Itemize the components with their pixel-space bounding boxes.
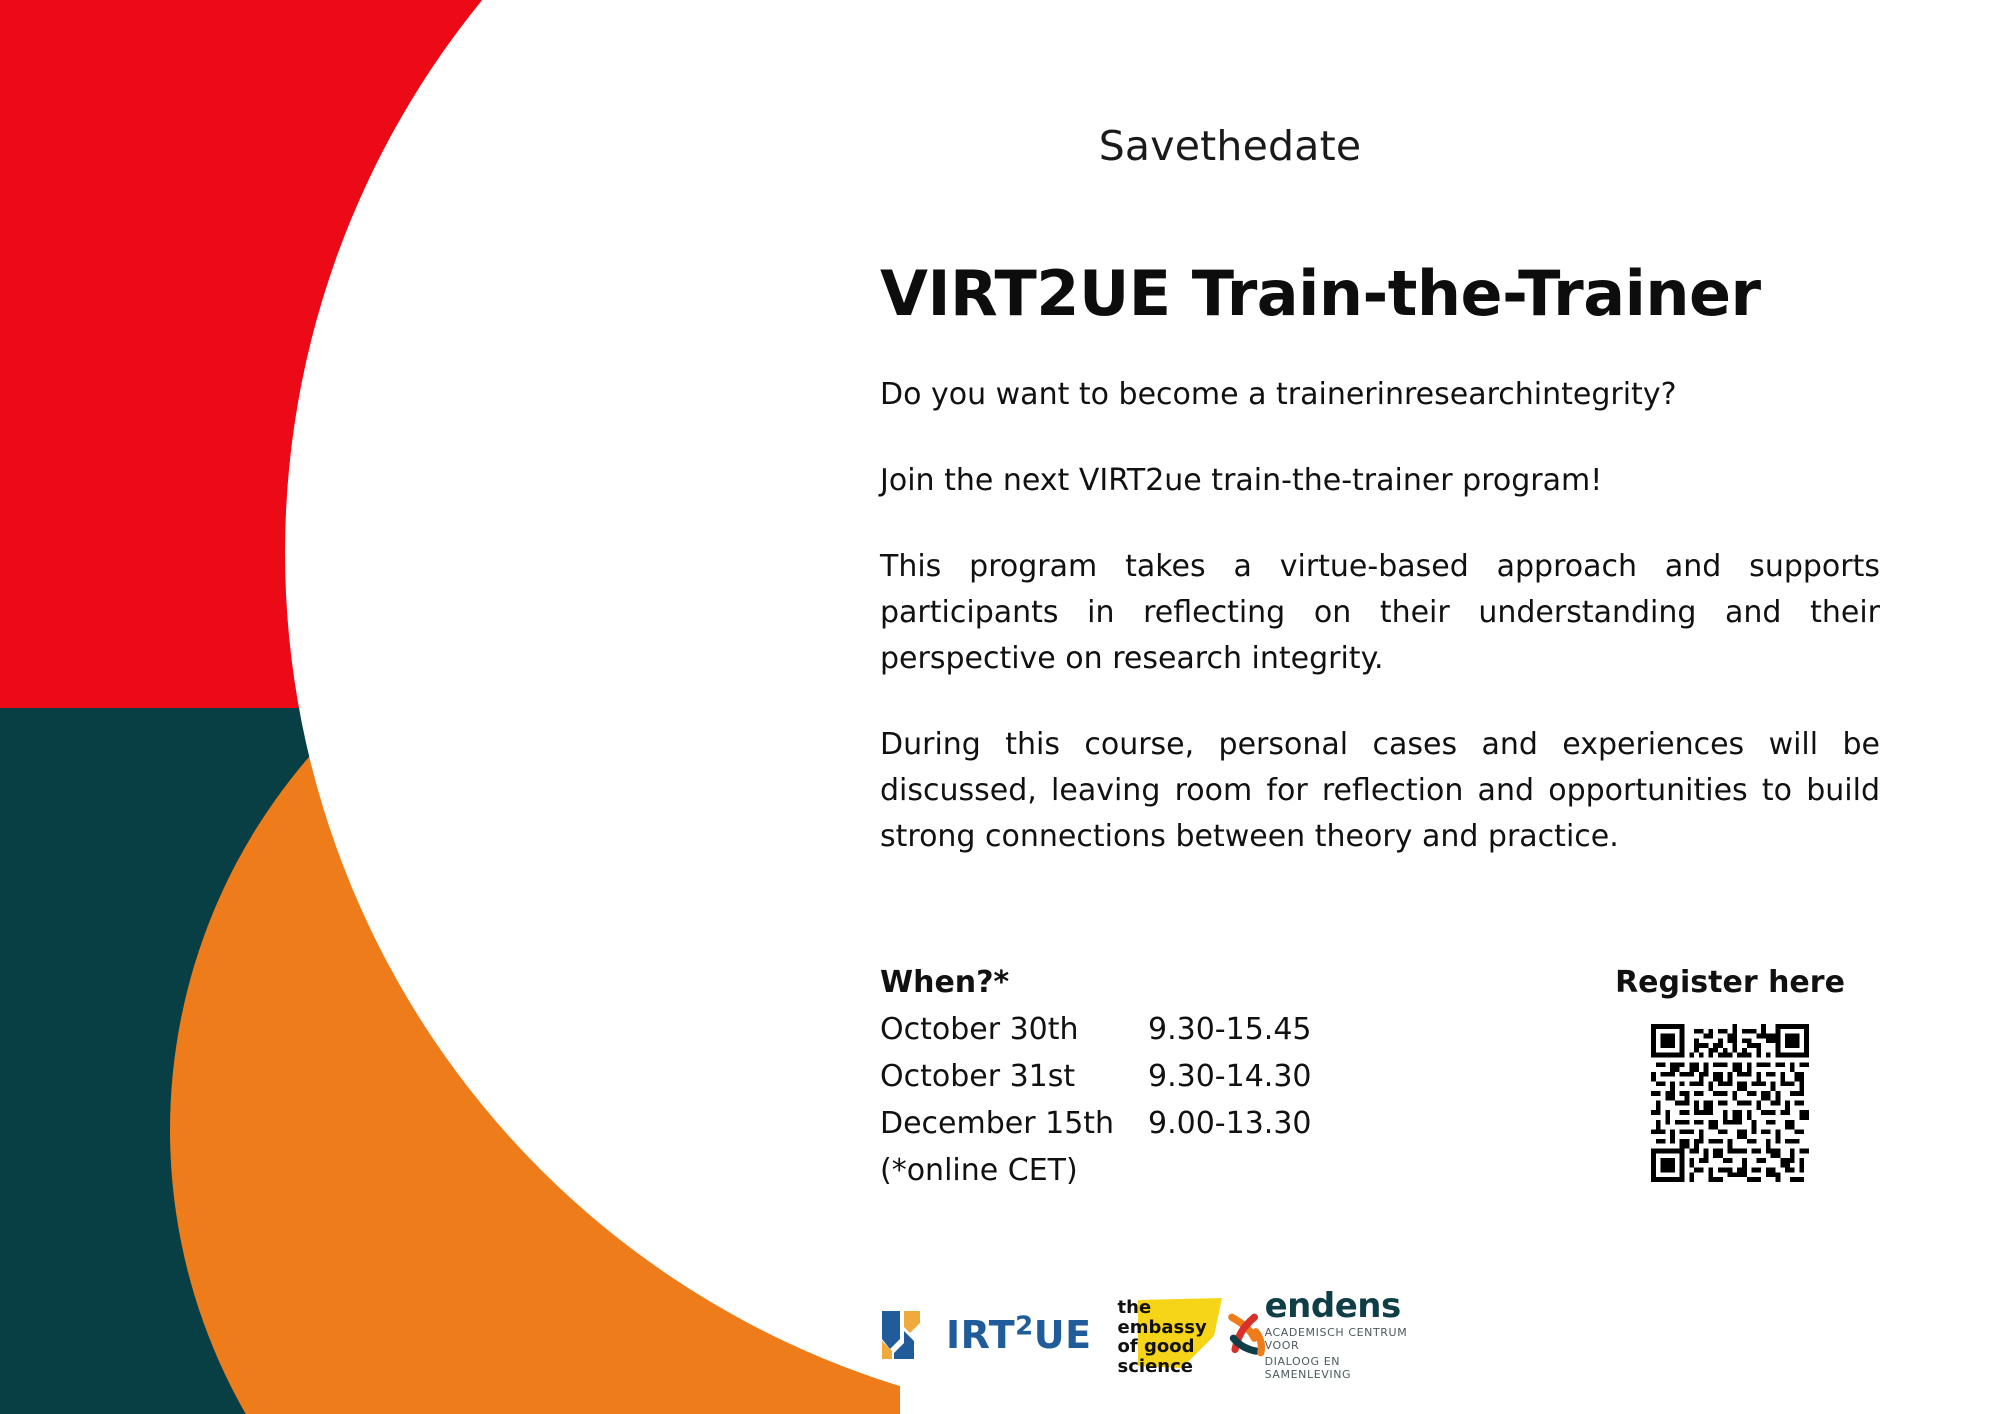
embassy-wordmark: the embassy of good science <box>1118 1296 1207 1376</box>
qr-code-icon[interactable] <box>1651 1024 1809 1182</box>
register-heading: Register here <box>1560 960 1900 1006</box>
schedule-date: October 31st <box>880 1053 1148 1100</box>
schedule-row: October 31st 9.30-14.30 <box>880 1053 1400 1100</box>
xendens-word: endens <box>1265 1289 1411 1323</box>
schedule-date: December 15th <box>880 1100 1148 1147</box>
poster-content: Savethedate VIRT2UE Train-the-Trainer Do… <box>0 0 2000 1414</box>
paragraph-course-description: During this course, personal cases and e… <box>880 722 1880 860</box>
schedule-time: 9.30-15.45 <box>1148 1006 1312 1053</box>
virt2ue-word-tail: UE <box>1034 1313 1092 1357</box>
logo-strip: IRT2UE the embassy of good science <box>880 1290 1400 1380</box>
schedule-date: October 30th <box>880 1006 1148 1053</box>
schedule-footnote: (*online CET) <box>880 1147 1400 1194</box>
schedule-row: October 30th 9.30-15.45 <box>880 1006 1400 1053</box>
virt2ue-word-main: IRT <box>946 1313 1015 1357</box>
virt2ue-wordmark: IRT2UE <box>946 1316 1092 1354</box>
schedule-block: When?* October 30th 9.30-15.45 October 3… <box>880 960 1400 1194</box>
paragraph-join-call: Join the next VIRT2ue train-the-trainer … <box>880 458 1880 504</box>
xendens-subline-2: DIALOOG EN SAMENLEVING <box>1265 1355 1411 1381</box>
save-the-date-kicker: Savethedate <box>880 122 1580 170</box>
xendens-logo: endens ACADEMISCH CENTRUM VOOR DIALOOG E… <box>1227 1300 1411 1370</box>
embassy-line-2: embassy <box>1118 1318 1207 1338</box>
schedule-time: 9.00-13.30 <box>1148 1100 1312 1147</box>
paragraph-intro-question: Do you want to become a trainerinresearc… <box>880 372 1880 418</box>
body-copy: Do you want to become a trainerinresearc… <box>880 372 1880 860</box>
paragraph-program-description: This program takes a virtue-based approa… <box>880 544 1880 682</box>
virt2ue-mark-icon <box>880 1309 944 1361</box>
schedule-heading: When?* <box>880 960 1400 1006</box>
virt2ue-word-sup: 2 <box>1015 1311 1034 1341</box>
virt2ue-logo: IRT2UE <box>880 1304 1092 1366</box>
embassy-line-3: of good <box>1118 1337 1207 1357</box>
xendens-x-mark-icon <box>1227 1309 1269 1361</box>
xendens-wordmark: endens ACADEMISCH CENTRUM VOOR DIALOOG E… <box>1265 1289 1411 1381</box>
schedule-row: December 15th 9.00-13.30 <box>880 1100 1400 1147</box>
poster-canvas: Savethedate VIRT2UE Train-the-Trainer Do… <box>0 0 2000 1414</box>
register-block: Register here <box>1560 960 1900 1182</box>
embassy-line-1: the <box>1118 1298 1207 1318</box>
embassy-line-4: science <box>1118 1357 1207 1377</box>
schedule-time: 9.30-14.30 <box>1148 1053 1312 1100</box>
embassy-of-good-science-logo: the embassy of good science <box>1118 1296 1207 1374</box>
xendens-subline-1: ACADEMISCH CENTRUM VOOR <box>1265 1326 1411 1352</box>
page-title: VIRT2UE Train-the-Trainer <box>880 257 1880 330</box>
